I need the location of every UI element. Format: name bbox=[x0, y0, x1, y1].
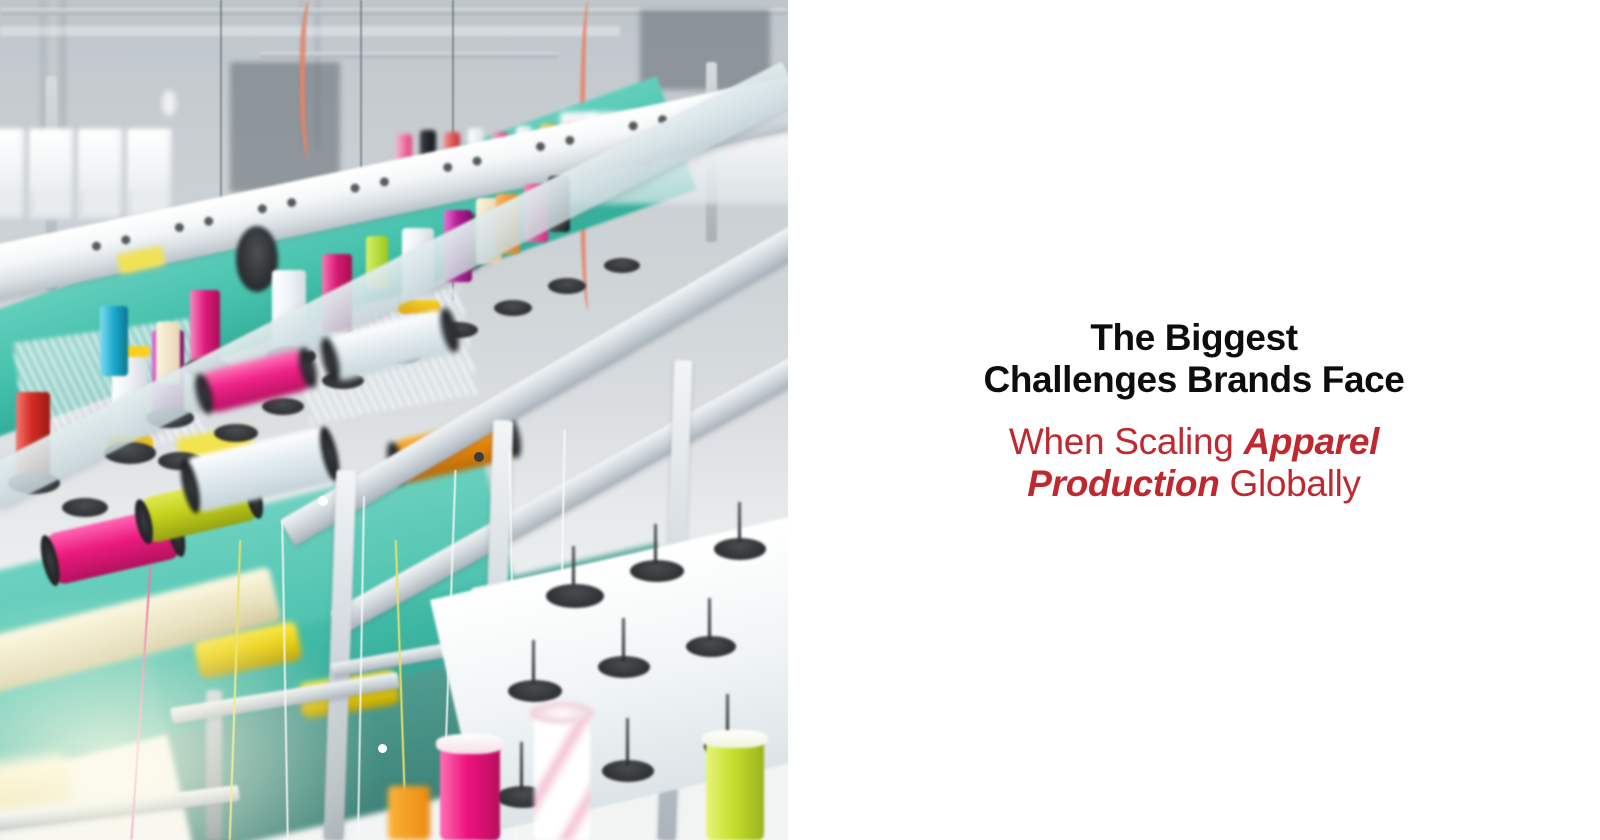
factory-photo bbox=[0, 0, 788, 840]
headline-secondary-part-1: When Scaling bbox=[1009, 421, 1244, 462]
spool-bottom-lime bbox=[706, 740, 764, 840]
headline-block: The Biggest Challenges Brands Face When … bbox=[914, 317, 1474, 505]
spool-bottom-candy bbox=[534, 714, 590, 840]
headline-primary: The Biggest Challenges Brands Face bbox=[914, 317, 1474, 401]
spool-bottom-candy-cap bbox=[530, 702, 594, 724]
headline-secondary-part-2: Globally bbox=[1220, 463, 1361, 504]
spool-bottom-pink-cap bbox=[436, 734, 504, 754]
spool-bottom-pink bbox=[440, 744, 500, 840]
headline-panel: The Biggest Challenges Brands Face When … bbox=[788, 0, 1600, 840]
slide-canvas: The Biggest Challenges Brands Face When … bbox=[0, 0, 1600, 840]
spool-bottom-orange bbox=[388, 786, 430, 840]
bottom-foreground-spools bbox=[0, 0, 788, 840]
spool-bottom-lime-cap bbox=[702, 730, 768, 748]
headline-secondary: When Scaling Apparel Production Globally bbox=[914, 421, 1474, 505]
